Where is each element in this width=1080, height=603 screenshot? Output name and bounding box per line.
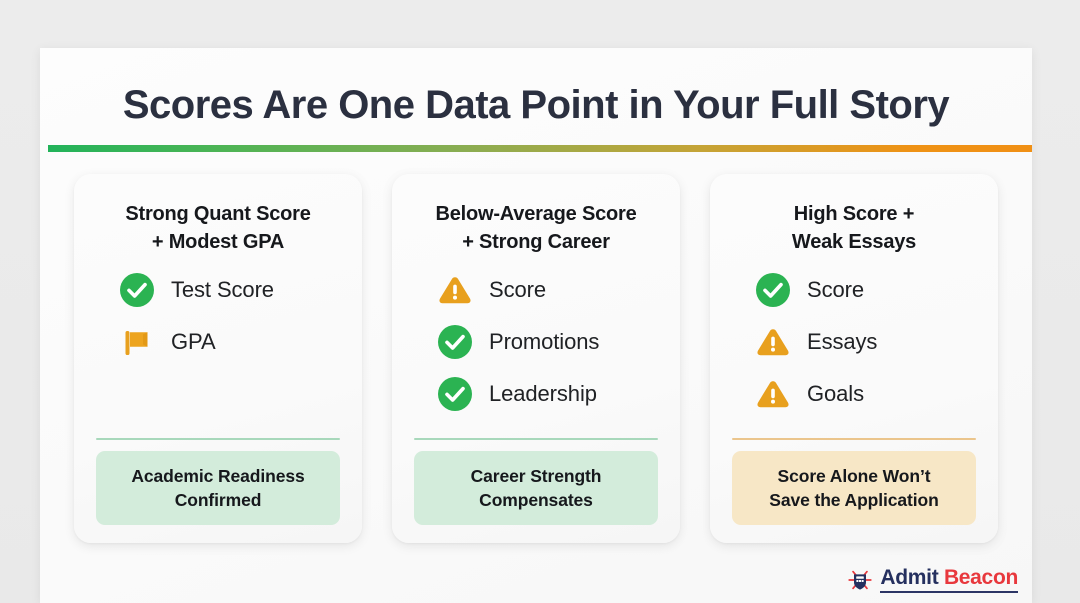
check-circle-icon: [436, 375, 474, 413]
list-item: Essays: [754, 323, 976, 361]
status-badge: Academic Readiness Confirmed: [96, 451, 340, 525]
warning-triangle-icon: [436, 271, 474, 309]
card-title: Strong Quant Score + Modest GPA: [96, 200, 340, 257]
page-title: Scores Are One Data Point in Your Full S…: [40, 48, 1032, 128]
warning-triangle-icon: [754, 375, 792, 413]
list-item: Test Score: [118, 271, 340, 309]
list-item: Promotions: [436, 323, 658, 361]
scenario-card[interactable]: High Score + Weak Essays Score: [710, 174, 998, 543]
check-circle-icon: [436, 323, 474, 361]
check-circle-icon: [118, 271, 156, 309]
scenario-card-list: Strong Quant Score + Modest GPA Test Sco…: [40, 174, 1032, 543]
slide-panel: Scores Are One Data Point in Your Full S…: [40, 48, 1032, 603]
card-title: Below-Average Score + Strong Career: [414, 200, 658, 257]
list-item: Score: [436, 271, 658, 309]
status-badge: Score Alone Won’t Save the Application: [732, 451, 976, 525]
card-divider: [414, 438, 658, 440]
card-divider: [732, 438, 976, 440]
scenario-card[interactable]: Below-Average Score + Strong Career Scor…: [392, 174, 680, 543]
flag-icon: [118, 323, 156, 361]
list-item-label: Leadership: [489, 381, 597, 407]
list-item-label: Essays: [807, 329, 877, 355]
list-item-label: GPA: [171, 329, 216, 355]
check-circle-icon: [754, 271, 792, 309]
beacon-crest-icon: [847, 567, 873, 593]
scenario-card[interactable]: Strong Quant Score + Modest GPA Test Sco…: [74, 174, 362, 543]
list-item: Leadership: [436, 375, 658, 413]
warning-triangle-icon: [754, 323, 792, 361]
list-item: Goals: [754, 375, 976, 413]
status-badge: Career Strength Compensates: [414, 451, 658, 525]
slide-canvas: Scores Are One Data Point in Your Full S…: [0, 0, 1080, 603]
card-title: High Score + Weak Essays: [732, 200, 976, 257]
card-item-list: Score Promotions: [414, 271, 658, 438]
list-item-label: Test Score: [171, 277, 274, 303]
brand-name-primary: Admit: [880, 566, 944, 589]
list-item-label: Score: [807, 277, 864, 303]
list-item: GPA: [118, 323, 340, 361]
list-item: Score: [754, 271, 976, 309]
brand-name-secondary: Beacon: [944, 566, 1018, 589]
list-item-label: Score: [489, 277, 546, 303]
accent-divider-bar: [48, 145, 1032, 152]
brand-logo[interactable]: Admit Beacon: [847, 567, 1018, 593]
card-divider: [96, 438, 340, 440]
list-item-label: Promotions: [489, 329, 599, 355]
brand-name: Admit Beacon: [880, 567, 1018, 592]
card-item-list: Test Score GPA: [96, 271, 340, 438]
list-item-label: Goals: [807, 381, 864, 407]
card-item-list: Score Essays: [732, 271, 976, 438]
